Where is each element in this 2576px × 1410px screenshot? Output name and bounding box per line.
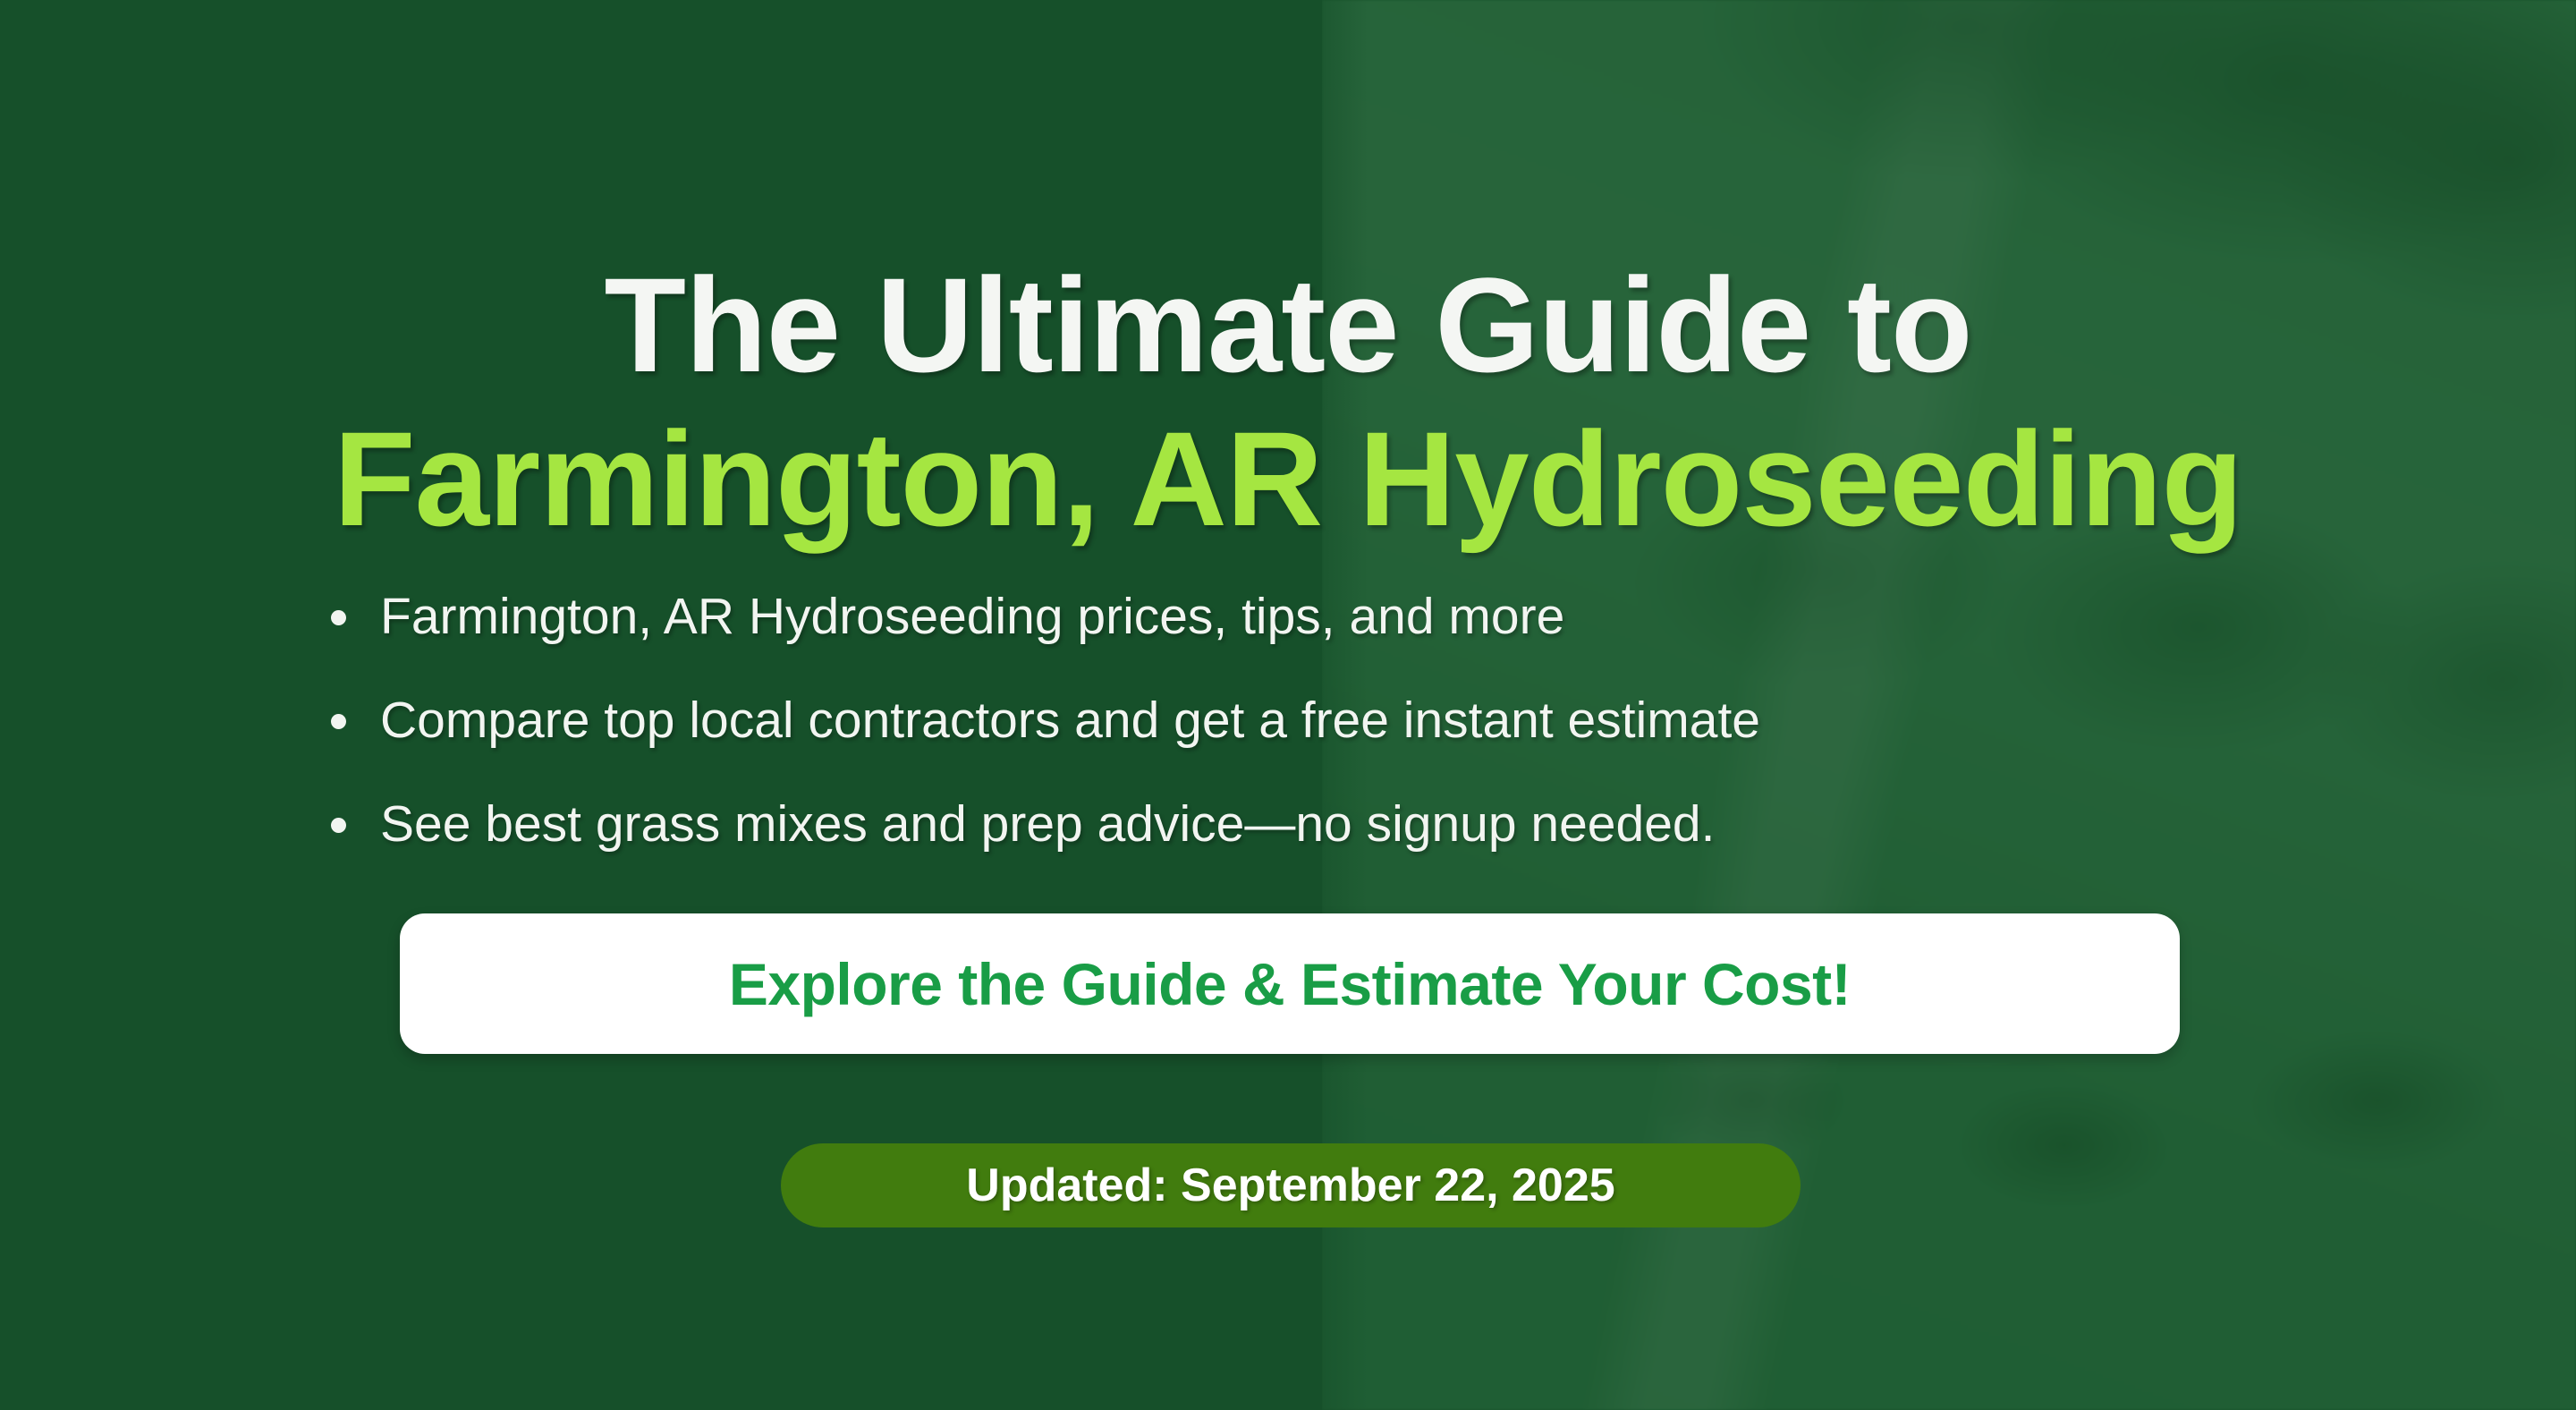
hero-banner: The Ultimate Guide to Farmington, AR Hyd…: [0, 0, 2576, 1410]
list-item: Compare top local contractors and get a …: [331, 694, 2245, 746]
list-item: Farmington, AR Hydroseeding prices, tips…: [331, 590, 2245, 642]
headline-line-1: The Ultimate Guide to: [0, 248, 2576, 402]
page-title: The Ultimate Guide to Farmington, AR Hyd…: [0, 248, 2576, 556]
feature-bullet-list: Farmington, AR Hydroseeding prices, tips…: [331, 590, 2245, 902]
updated-date-badge: Updated: September 22, 2025: [781, 1143, 1801, 1227]
list-item: See best grass mixes and prep advice—no …: [331, 798, 2245, 850]
hero-content: The Ultimate Guide to Farmington, AR Hyd…: [0, 0, 2576, 1410]
headline-line-2: Farmington, AR Hydroseeding: [0, 402, 2576, 556]
explore-guide-cta-button[interactable]: Explore the Guide & Estimate Your Cost!: [400, 913, 2180, 1054]
